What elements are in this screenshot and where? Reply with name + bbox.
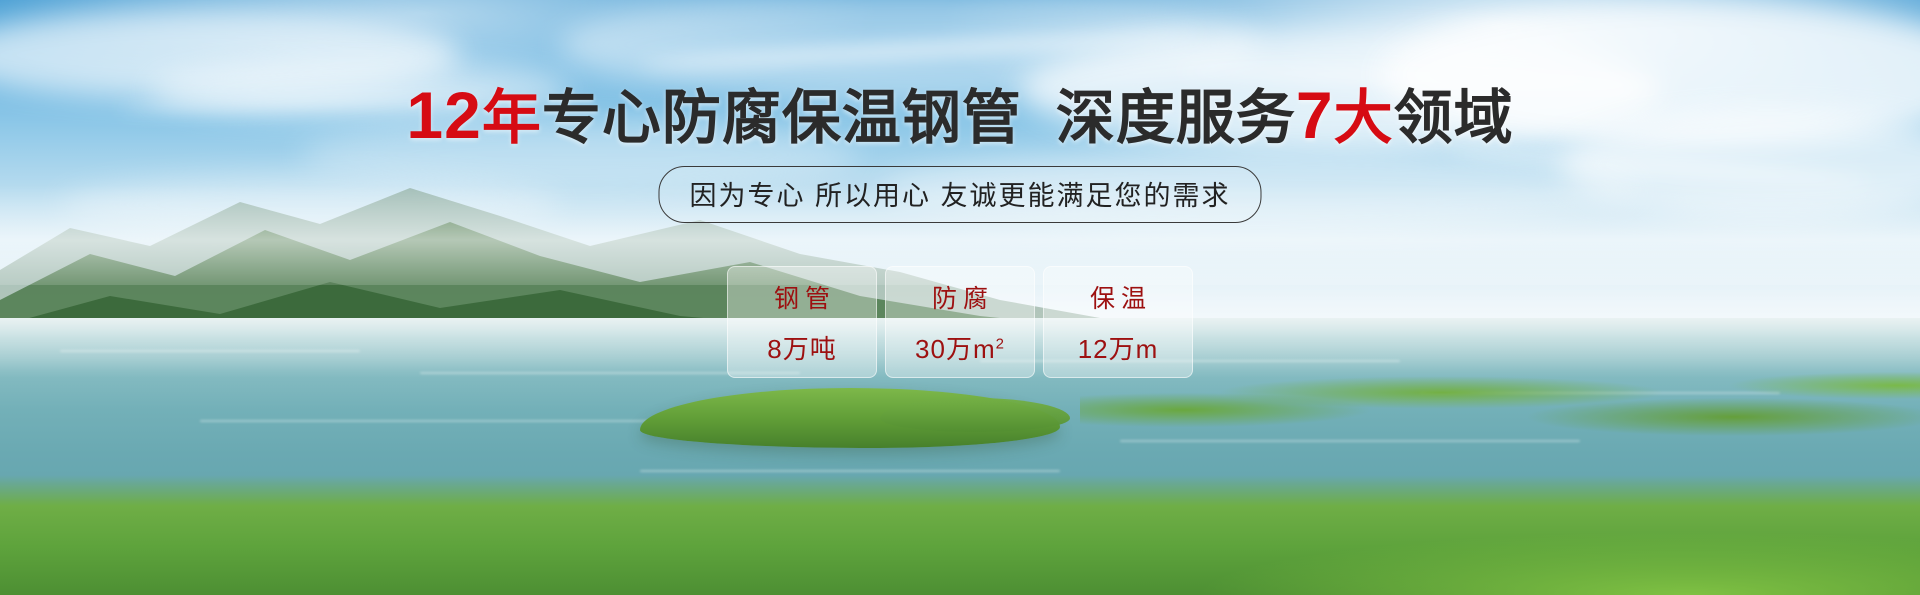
headline-fields-number: 7 (1296, 78, 1334, 152)
stat-value-text: 30万m (915, 334, 996, 364)
page-title: 12年专心防腐保温钢管深度服务7大领域 (0, 82, 1920, 148)
grass-island (880, 398, 1070, 432)
subtitle-pill: 因为专心 所以用心 友诚更能满足您的需求 (658, 166, 1261, 223)
water-ripple (200, 420, 720, 422)
stat-value-text: 8万吨 (767, 334, 836, 364)
stat-value: 12万m (1078, 329, 1159, 366)
stat-card-insulation: 保温 12万m (1043, 266, 1193, 378)
stat-value: 30万m2 (915, 329, 1005, 366)
foreground-grass (0, 475, 1920, 595)
water-ripple (1120, 440, 1580, 442)
stat-card-group: 钢管 8万吨 防腐 30万m2 保温 12万m (727, 266, 1193, 378)
stat-label: 保温 (1084, 279, 1152, 315)
stat-label: 防腐 (926, 279, 994, 315)
headline-main: 专心防腐保温钢管 (542, 85, 1022, 151)
stat-card-anticorrosion: 防腐 30万m2 (885, 266, 1035, 378)
promo-banner: 12年专心防腐保温钢管深度服务7大领域 因为专心 所以用心 友诚更能满足您的需求… (0, 0, 1920, 595)
headline-fields-unit: 大 (1334, 85, 1394, 151)
marsh-vegetation (1080, 368, 1920, 438)
stat-label: 钢管 (768, 279, 836, 315)
headline-years-unit: 年 (482, 85, 542, 151)
stat-value: 8万吨 (767, 329, 836, 366)
water-ripple (640, 470, 1060, 472)
headline-service: 深度服务 (1056, 85, 1296, 151)
stat-card-steel-pipe: 钢管 8万吨 (727, 266, 877, 378)
headline-fields-label: 领域 (1394, 85, 1514, 151)
headline-years-number: 12 (406, 78, 481, 152)
stat-value-text: 12万m (1078, 334, 1159, 364)
stat-value-superscript: 2 (996, 335, 1005, 352)
water-ripple (60, 350, 360, 352)
